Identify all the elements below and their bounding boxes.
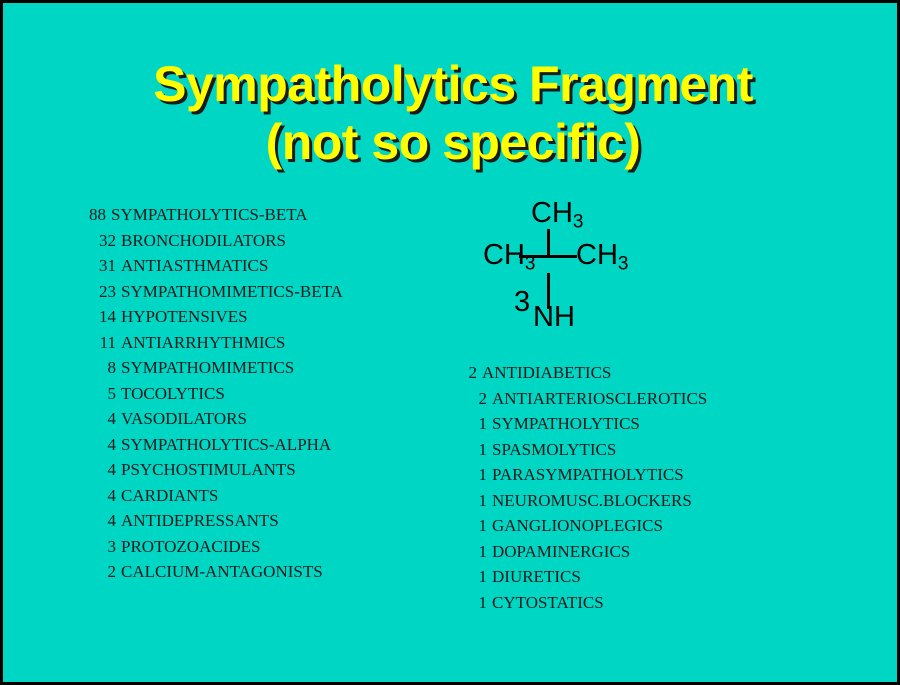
- category-label: SYMPATHOMIMETICS-BETA: [116, 282, 343, 301]
- category-count: 4: [94, 406, 116, 432]
- category-count: 2: [94, 559, 116, 585]
- list-item: 3PROTOZOACIDES: [94, 534, 343, 560]
- list-item: 1SYMPATHOLYTICS: [465, 411, 707, 437]
- atom-subscript: 3: [618, 254, 629, 275]
- category-count: 4: [94, 483, 116, 509]
- category-count: 23: [94, 279, 116, 305]
- category-label: CYTOSTATICS: [487, 593, 604, 612]
- category-label: PSYCHOSTIMULANTS: [116, 460, 296, 479]
- category-count: 1: [465, 564, 487, 590]
- chemical-structure-diagram: CH3 CH3 CH3 NH 3: [458, 193, 688, 343]
- category-count: 31: [94, 253, 116, 279]
- list-item: 1CYTOSTATICS: [465, 590, 707, 616]
- category-label: NEUROMUSC.BLOCKERS: [487, 491, 692, 510]
- atom-symbol: CH: [576, 239, 618, 271]
- bond-line-right: [547, 255, 577, 258]
- list-item: 1SPASMOLYTICS: [465, 437, 707, 463]
- list-item: 2ANTIDIABETICS: [455, 360, 707, 386]
- category-count: 1: [465, 411, 487, 437]
- list-item: 1DOPAMINERGICS: [465, 539, 707, 565]
- list-item: 8SYMPATHOMIMETICS: [94, 355, 343, 381]
- list-item: 4SYMPATHOLYTICS-ALPHA: [94, 432, 343, 458]
- page-title: Sympatholytics Fragment (not so specific…: [3, 55, 900, 171]
- list-item: 1NEUROMUSC.BLOCKERS: [465, 488, 707, 514]
- list-item: 1PARASYMPATHOLYTICS: [465, 462, 707, 488]
- category-count: 2: [465, 386, 487, 412]
- atom-subscript: 3: [525, 254, 536, 275]
- list-item: 4CARDIANTS: [94, 483, 343, 509]
- category-label: SYMPATHOLYTICS-ALPHA: [116, 435, 331, 454]
- atom-symbol: CH: [483, 239, 525, 271]
- category-label: PROTOZOACIDES: [116, 537, 260, 556]
- category-label: SYMPATHOMIMETICS: [116, 358, 294, 377]
- category-list-right: 2ANTIDIABETICS 2ANTIARTERIOSCLEROTICS 1S…: [465, 360, 707, 615]
- category-count: 4: [94, 508, 116, 534]
- list-item: 23SYMPATHOMIMETICS-BETA: [94, 279, 343, 305]
- list-item: 1DIURETICS: [465, 564, 707, 590]
- atom-label-ch3-right: CH3: [576, 241, 628, 279]
- atom-subscript: 3: [573, 212, 584, 233]
- category-count: 1: [465, 513, 487, 539]
- category-count: 88: [84, 202, 106, 228]
- category-count: 8: [94, 355, 116, 381]
- list-item: 1GANGLIONOPLEGICS: [465, 513, 707, 539]
- list-item: 2ANTIARTERIOSCLEROTICS: [465, 386, 707, 412]
- list-item: 88SYMPATHOLYTICS-BETA: [84, 202, 343, 228]
- category-label: GANGLIONOPLEGICS: [487, 516, 663, 535]
- category-label: CALCIUM-ANTAGONISTS: [116, 562, 323, 581]
- category-label: ANTIDIABETICS: [477, 363, 611, 382]
- category-label: DIURETICS: [487, 567, 581, 586]
- category-count: 14: [94, 304, 116, 330]
- category-label: BRONCHODILATORS: [116, 231, 286, 250]
- atom-label-ch3-top: CH3: [531, 199, 583, 237]
- category-label: HYPOTENSIVES: [116, 307, 248, 326]
- category-count: 3: [94, 534, 116, 560]
- atom-label-ch3-left: CH3: [483, 241, 535, 279]
- list-item: 5TOCOLYTICS: [94, 381, 343, 407]
- list-item: 4ANTIDEPRESSANTS: [94, 508, 343, 534]
- category-count: 1: [465, 488, 487, 514]
- slide: Sympatholytics Fragment (not so specific…: [0, 0, 900, 685]
- atom-symbol: CH: [531, 197, 573, 229]
- category-count: 4: [94, 457, 116, 483]
- category-label: SYMPATHOLYTICS: [487, 414, 640, 433]
- list-item: 4PSYCHOSTIMULANTS: [94, 457, 343, 483]
- structure-annotation-count: 3: [514, 288, 530, 317]
- category-label: ANTIARRHYTHMICS: [116, 333, 285, 352]
- list-item: 31ANTIASTHMATICS: [94, 253, 343, 279]
- list-item: 32BRONCHODILATORS: [94, 228, 343, 254]
- category-label: ANTIDEPRESSANTS: [116, 511, 279, 530]
- category-label: PARASYMPATHOLYTICS: [487, 465, 684, 484]
- category-count: 5: [94, 381, 116, 407]
- category-count: 1: [465, 462, 487, 488]
- list-item: 11ANTIARRHYTHMICS: [94, 330, 343, 356]
- category-count: 4: [94, 432, 116, 458]
- category-label: CARDIANTS: [116, 486, 218, 505]
- category-list-left: 88SYMPATHOLYTICS-BETA 32BRONCHODILATORS …: [94, 202, 343, 585]
- category-count: 1: [465, 539, 487, 565]
- category-count: 32: [94, 228, 116, 254]
- list-item: 14HYPOTENSIVES: [94, 304, 343, 330]
- category-label: TOCOLYTICS: [116, 384, 225, 403]
- category-label: DOPAMINERGICS: [487, 542, 630, 561]
- title-line-2: (not so specific): [3, 113, 900, 171]
- category-count: 2: [455, 360, 477, 386]
- atom-label-nh: NH: [533, 303, 575, 332]
- category-count: 11: [94, 330, 116, 356]
- list-item: 4VASODILATORS: [94, 406, 343, 432]
- category-count: 1: [465, 437, 487, 463]
- category-label: ANTIASTHMATICS: [116, 256, 268, 275]
- list-item: 2CALCIUM-ANTAGONISTS: [94, 559, 343, 585]
- category-label: ANTIARTERIOSCLEROTICS: [487, 389, 707, 408]
- category-label: VASODILATORS: [116, 409, 247, 428]
- category-count: 1: [465, 590, 487, 616]
- category-label: SYMPATHOLYTICS-BETA: [106, 205, 308, 224]
- title-line-1: Sympatholytics Fragment: [3, 55, 900, 113]
- category-label: SPASMOLYTICS: [487, 440, 616, 459]
